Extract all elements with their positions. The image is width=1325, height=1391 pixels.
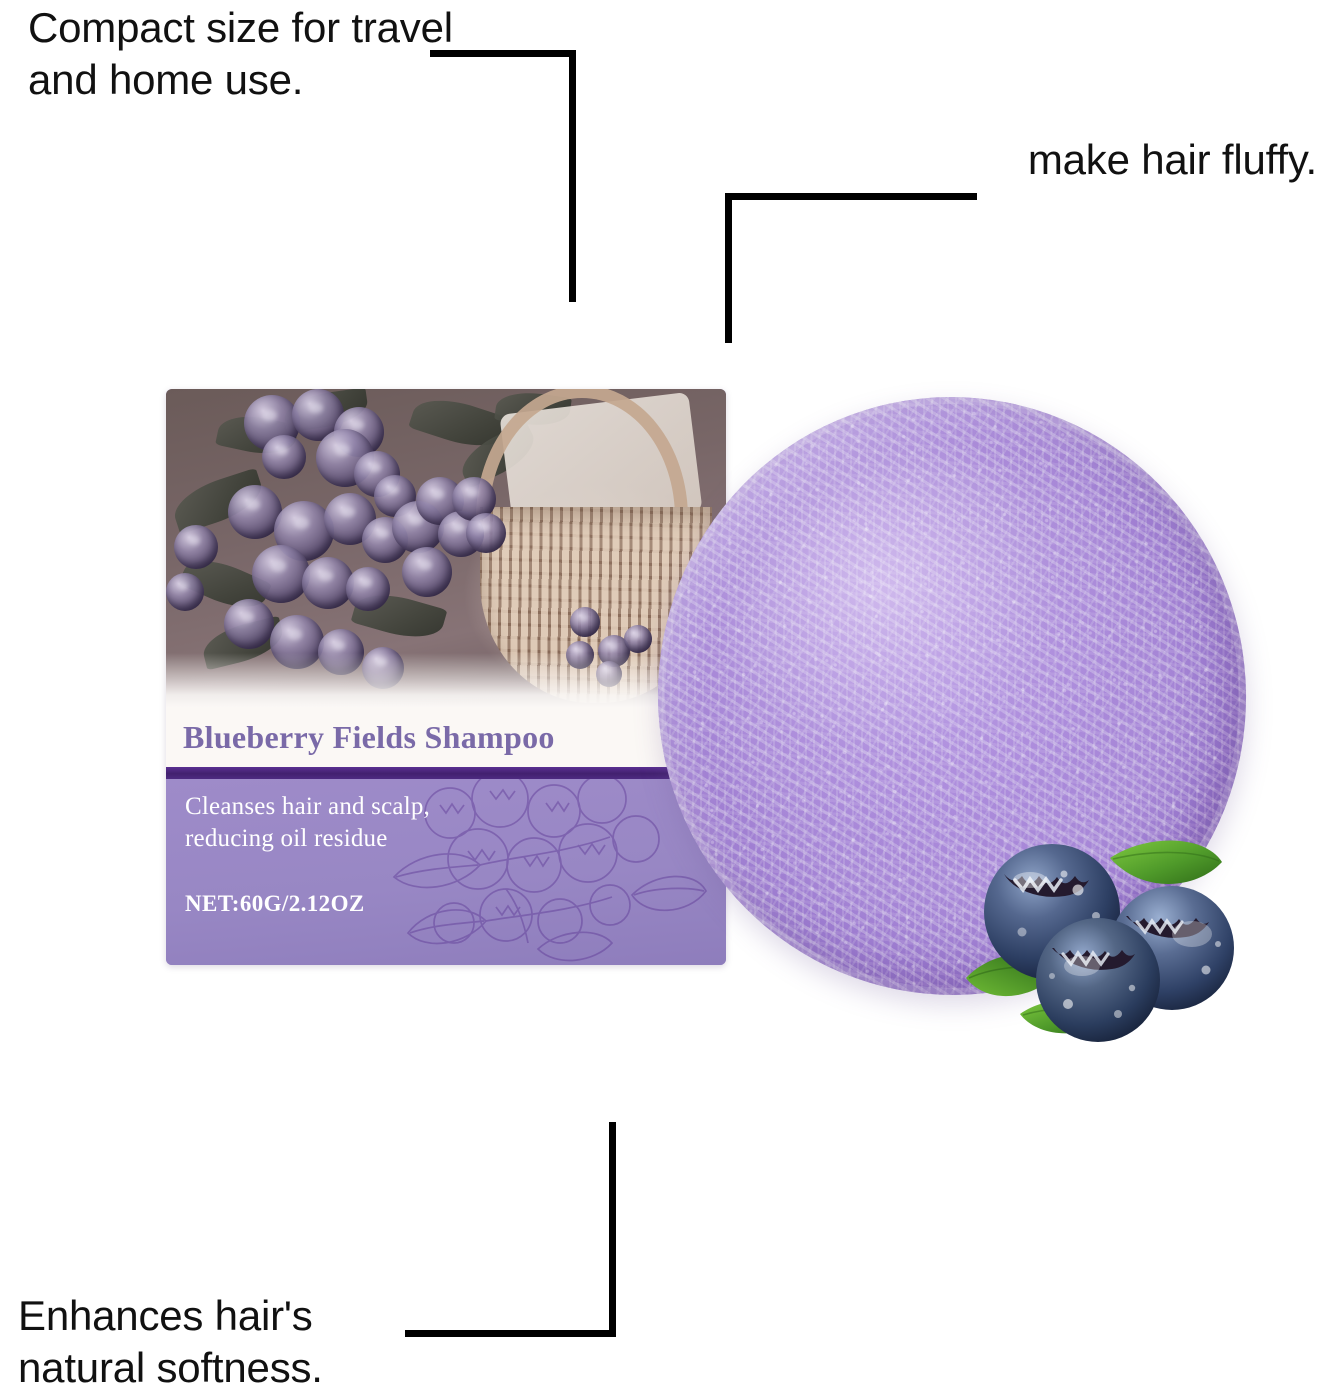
- product-box: Blueberry Fields Shampoo: [166, 389, 726, 965]
- blueberry-3: [1036, 918, 1160, 1042]
- callout-natural-softness-text: Enhances hair's natural softness.: [18, 1290, 323, 1391]
- box-description: Cleanses hair and scalp, reducing oil re…: [185, 791, 430, 855]
- callout-fluffy-hair-text: make hair fluffy.: [1028, 134, 1317, 186]
- box-product-title: Blueberry Fields Shampoo: [166, 719, 555, 756]
- blueberry-cluster: [960, 828, 1252, 1052]
- blueberry-engraving-icon: [388, 779, 708, 965]
- box-net-weight: NET:60G/2.12OZ: [185, 891, 365, 917]
- box-title-band: Blueberry Fields Shampoo: [166, 707, 726, 767]
- product-infographic: Compact size for travel and home use. ma…: [0, 0, 1325, 1391]
- callout-compact-size-leader-horizontal: [430, 50, 576, 57]
- callout-compact-size-text: Compact size for travel and home use.: [28, 2, 453, 106]
- callout-natural-softness-leader-horizontal: [405, 1330, 616, 1337]
- callout-fluffy-hair-leader-horizontal: [725, 193, 977, 200]
- callout-fluffy-hair-leader-vertical: [725, 193, 732, 343]
- box-lower-panel: Cleanses hair and scalp, reducing oil re…: [166, 779, 726, 965]
- callout-compact-size-leader-vertical: [569, 50, 576, 302]
- box-divider-rule: [166, 767, 726, 779]
- callout-natural-softness-leader-vertical: [609, 1122, 616, 1337]
- photo-bottom-fade: [166, 653, 726, 707]
